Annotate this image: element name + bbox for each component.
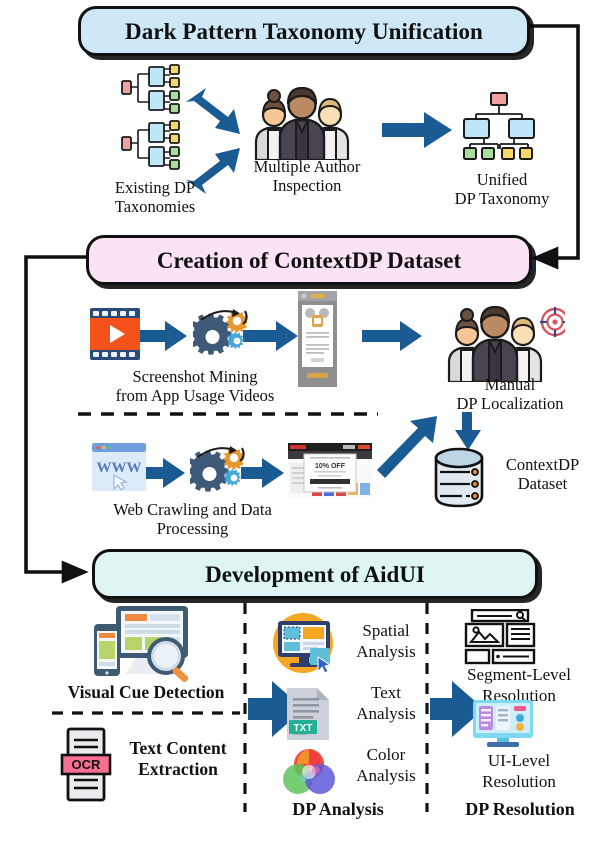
gears-processing-icon [190,440,246,498]
contextdp-dataset-label-line1: ContextDP [485,455,600,474]
stage-3-title: Development of AidUI [205,563,425,586]
approach-overview-figure: Dark Pattern Taxonomy Unification Creati… [0,0,602,856]
text-content-extraction-label: Text Content Extraction [108,738,248,780]
web-crawling-label-line1: Web Crawling and Data [75,500,310,519]
spatial-analysis-label: Spatial Analysis [340,620,432,662]
screenshot-mining-label-line1: Screenshot Mining [80,367,310,386]
ui-monitor-icon [470,699,536,749]
segment-level-resolution-label-line1: Segment-Level [436,664,602,685]
stage-banner-development-aidui: Development of AidUI [92,549,538,599]
manual-dp-localization-label-line1: Manual [430,375,590,394]
taxonomy-trees-icon [118,62,188,174]
text-content-extraction-label-line2: Extraction [108,759,248,780]
text-content-extraction-label-line1: Text Content [108,738,248,759]
svg-text:10% OFF: 10% OFF [315,463,346,470]
color-analysis-label: Color Analysis [338,744,434,786]
color-analysis-label-line1: Color [338,744,434,765]
manual-dp-localization-label-line2: DP Localization [430,394,590,413]
existing-dp-taxonomies-label-line2: Taxonomies [90,197,220,216]
web-screenshot-icon: 10% OFF [288,443,372,498]
stage-banner-contextdp-dataset: Creation of ContextDP Dataset [86,235,532,285]
svg-text:TXT: TXT [294,723,313,734]
screenshot-mining-label: Screenshot Mining from App Usage Videos [80,367,310,405]
stage-1-title: Dark Pattern Taxonomy Unification [125,20,483,43]
dp-resolution-group-label-text: DP Resolution [440,800,600,819]
multiple-author-inspection-label: Multiple Author Inspection [233,157,381,195]
dp-resolution-group-label: DP Resolution [440,800,600,819]
gears-processing-icon [193,303,249,361]
spatial-analysis-label-line1: Spatial [340,620,432,641]
wireframe-segments-icon [464,609,536,665]
ui-level-resolution-label-line2: Resolution [444,771,594,792]
web-crawling-label-line2: Processing [75,519,310,538]
multiple-author-inspection-label-line1: Multiple Author [233,157,381,176]
txt-file-icon: TXT [285,686,331,742]
unified-taxonomy-tree-icon [462,92,536,160]
existing-dp-taxonomies-label-line1: Existing DP [90,178,220,197]
text-analysis-label: Text Analysis [338,682,434,724]
spatial-analysis-label-line2: Analysis [340,641,432,662]
svg-text:WWW: WWW [97,460,142,476]
dp-analysis-group-label: DP Analysis [258,800,418,819]
manual-dp-localization-label: Manual DP Localization [430,375,590,413]
ui-level-resolution-label: UI-Level Resolution [444,750,594,792]
ui-level-resolution-label-line1: UI-Level [444,750,594,771]
screenshot-mining-label-line2: from App Usage Videos [80,386,310,405]
unified-dp-taxonomy-label-line2: DP Taxonomy [432,189,572,208]
devices-magnifier-icon [88,604,198,684]
unified-dp-taxonomy-label-line1: Unified [432,170,572,189]
dp-analysis-group-label-text: DP Analysis [258,800,418,819]
text-analysis-label-line2: Analysis [338,703,434,724]
film-video-icon [90,308,140,360]
multiple-author-inspection-label-line2: Inspection [233,176,381,195]
color-wheels-icon [283,748,335,796]
visual-cue-detection-label-text: Visual Cue Detection [46,683,246,702]
visual-cue-detection-label: Visual Cue Detection [46,683,246,702]
svg-text:OCR: OCR [72,757,102,772]
ocr-document-icon: OCR [60,727,112,802]
web-crawling-label: Web Crawling and Data Processing [75,500,310,538]
people-group-icon [252,86,352,160]
stage-banner-taxonomy-unification: Dark Pattern Taxonomy Unification [78,6,530,56]
web-browser-www-icon: WWW [92,443,146,491]
monitor-spatial-icon [272,612,340,674]
contextdp-dataset-label-line2: Dataset [485,474,600,493]
stage-2-title: Creation of ContextDP Dataset [157,249,461,272]
existing-dp-taxonomies-label: Existing DP Taxonomies [90,178,220,216]
unified-dp-taxonomy-label: Unified DP Taxonomy [432,170,572,208]
text-analysis-label-line1: Text [338,682,434,703]
color-analysis-label-line2: Analysis [338,765,434,786]
contextdp-dataset-label: ContextDP Dataset [485,455,600,493]
database-icon [432,446,488,508]
people-with-target-icon [445,304,565,382]
